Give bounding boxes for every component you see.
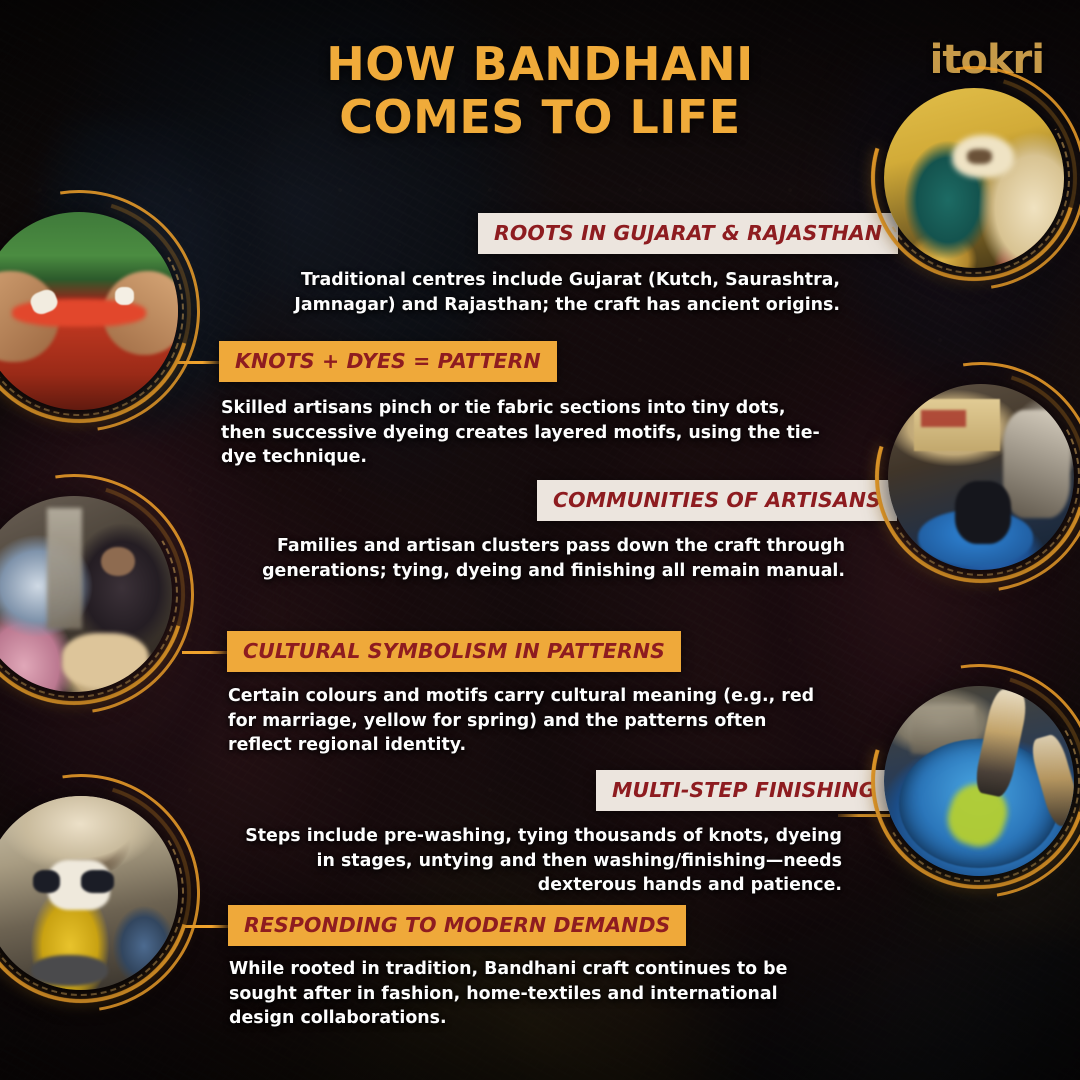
photo-image bbox=[0, 212, 178, 410]
section-finishing: MULTI-STEP FINISHING bbox=[596, 770, 892, 811]
section-symbolism: CULTURAL SYMBOLISM IN PATTERNS bbox=[227, 631, 681, 672]
section-roots: ROOTS IN GUJARAT & RAJASTHAN bbox=[478, 213, 840, 254]
photo-image bbox=[0, 796, 178, 990]
section-communities-label[interactable]: COMMUNITIES OF ARTISANS bbox=[537, 480, 897, 521]
connector-symbolism bbox=[182, 651, 228, 654]
section-roots-label[interactable]: ROOTS IN GUJARAT & RAJASTHAN bbox=[478, 213, 898, 254]
section-finishing-body: Steps include pre-washing, tying thousan… bbox=[232, 824, 842, 898]
section-knots-body: Skilled artisans pinch or tie fabric sec… bbox=[221, 396, 821, 470]
section-modern-demands: RESPONDING TO MODERN DEMANDS bbox=[228, 905, 686, 946]
page-title: HOW BANDHANI COMES TO LIFE bbox=[0, 38, 1080, 145]
page-title-line-2: COMES TO LIFE bbox=[0, 91, 1080, 144]
section-finishing-label[interactable]: MULTI-STEP FINISHING bbox=[596, 770, 892, 811]
photo-image bbox=[884, 686, 1074, 876]
photo-image bbox=[0, 496, 172, 692]
photo-hands-tying-red-fabric[interactable] bbox=[0, 212, 178, 410]
section-communities: COMMUNITIES OF ARTISANS bbox=[537, 480, 897, 521]
photo-artisan-dyeing-blue-vat[interactable] bbox=[888, 384, 1074, 570]
section-symbolism-label[interactable]: CULTURAL SYMBOLISM IN PATTERNS bbox=[227, 631, 681, 672]
photo-image bbox=[888, 384, 1074, 570]
photo-man-lifting-yellow-fabric[interactable] bbox=[0, 796, 178, 990]
section-roots-body: Traditional centres include Gujarat (Kut… bbox=[240, 268, 840, 317]
photo-indigo-vat-with-fabric[interactable] bbox=[884, 686, 1074, 876]
section-knots: KNOTS + DYES = PATTERN bbox=[219, 341, 557, 382]
section-modern-demands-label[interactable]: RESPONDING TO MODERN DEMANDS bbox=[228, 905, 686, 946]
infographic-poster: itokri HOW BANDHANI COMES TO LIFE ROOTS … bbox=[0, 0, 1080, 1080]
section-symbolism-body: Certain colours and motifs carry cultura… bbox=[228, 684, 828, 758]
photo-woman-tying-cream-fabric[interactable] bbox=[0, 496, 172, 692]
section-modern-demands-body: While rooted in tradition, Bandhani craf… bbox=[229, 957, 829, 1031]
section-knots-label[interactable]: KNOTS + DYES = PATTERN bbox=[219, 341, 557, 382]
section-communities-body: Families and artisan clusters pass down … bbox=[245, 534, 845, 583]
page-title-line-1: HOW BANDHANI bbox=[0, 38, 1080, 91]
